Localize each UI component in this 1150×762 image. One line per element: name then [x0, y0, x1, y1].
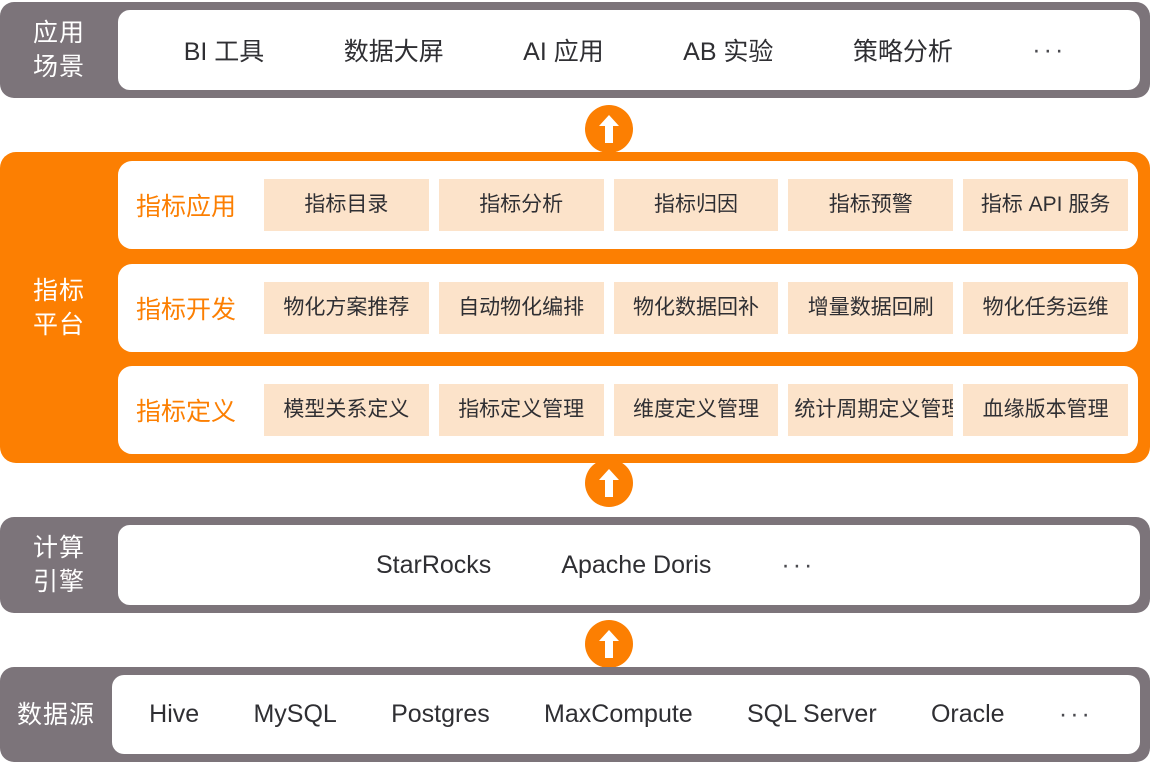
application-scenario-panel: BI 工具 数据大屏 AI 应用 AB 实验 策略分析 ··· [118, 10, 1140, 90]
chip-metric-definition-management: 指标定义管理 [439, 384, 604, 436]
scenario-item-strategy-analysis: 策略分析 [853, 32, 953, 68]
datasource-item-hive: Hive [149, 700, 199, 729]
data-source-panel: Hive MySQL Postgres MaxCompute SQL Serve… [112, 675, 1140, 754]
layer-compute-engine: 计算 引擎 StarRocks Apache Doris ··· [0, 517, 1150, 613]
metrics-platform-rows: 指标应用 指标目录 指标分析 指标归因 指标预警 指标 API 服务 指标开发 … [118, 152, 1150, 463]
chip-metric-analysis: 指标分析 [439, 179, 604, 231]
datasource-item-more-ellipsis: ··· [1059, 700, 1093, 729]
chip-materialized-data-backfill: 物化数据回补 [614, 282, 779, 334]
layer-data-source: 数据源 Hive MySQL Postgres MaxCompute SQL S… [0, 667, 1150, 762]
datasource-item-sql-server: SQL Server [747, 700, 877, 729]
chip-materialization-task-ops: 物化任务运维 [963, 282, 1128, 334]
platform-row-label-metric-development: 指标开发 [136, 290, 264, 326]
scenario-item-data-dashboard: 数据大屏 [344, 32, 444, 68]
chip-metric-api-service: 指标 API 服务 [963, 179, 1128, 231]
platform-row-label-metric-definition: 指标定义 [136, 392, 264, 428]
layer-application-scenario: 应用 场景 BI 工具 数据大屏 AI 应用 AB 实验 策略分析 ··· [0, 2, 1150, 98]
datasource-item-oracle: Oracle [931, 700, 1005, 729]
layer-metrics-platform: 指标 平台 指标应用 指标目录 指标分析 指标归因 指标预警 指标 API 服务… [0, 152, 1150, 463]
datasource-item-postgres: Postgres [391, 700, 490, 729]
arrow-up-icon-scenario [585, 105, 633, 153]
engine-item-more-ellipsis: ··· [781, 551, 815, 580]
chip-model-relation-definition: 模型关系定义 [264, 384, 429, 436]
datasource-item-maxcompute: MaxCompute [544, 700, 693, 729]
engine-item-apache-doris: Apache Doris [561, 551, 711, 580]
datasource-item-mysql: MySQL [253, 700, 336, 729]
scenario-item-more-ellipsis: ··· [1032, 36, 1066, 65]
engine-item-starrocks: StarRocks [376, 551, 491, 580]
arrow-up-icon-engine [585, 620, 633, 668]
scenario-item-ab-experiment: AB 实验 [683, 32, 773, 68]
platform-row-chips-metric-application: 指标目录 指标分析 指标归因 指标预警 指标 API 服务 [264, 179, 1128, 231]
layer-label-metrics-platform: 指标 平台 [0, 274, 118, 342]
chip-metric-catalog: 指标目录 [264, 179, 429, 231]
platform-row-metric-application: 指标应用 指标目录 指标分析 指标归因 指标预警 指标 API 服务 [118, 161, 1138, 249]
scenario-item-ai-application: AI 应用 [523, 32, 604, 68]
chip-metric-attribution: 指标归因 [614, 179, 779, 231]
compute-engine-panel: StarRocks Apache Doris ··· [118, 525, 1140, 605]
chip-incremental-data-refresh: 增量数据回刷 [788, 282, 953, 334]
chip-dimension-definition-management: 维度定义管理 [614, 384, 779, 436]
platform-row-chips-metric-definition: 模型关系定义 指标定义管理 维度定义管理 统计周期定义管理 血缘版本管理 [264, 384, 1128, 436]
chip-auto-materialization-orchestration: 自动物化编排 [439, 282, 604, 334]
platform-row-label-metric-application: 指标应用 [136, 187, 264, 223]
layer-label-data-source: 数据源 [0, 698, 112, 732]
architecture-diagram: 应用 场景 BI 工具 数据大屏 AI 应用 AB 实验 策略分析 ··· 指标… [0, 0, 1150, 762]
chip-statistical-period-definition-management: 统计周期定义管理 [788, 384, 953, 436]
scenario-item-bi-tool: BI 工具 [184, 32, 265, 68]
chip-metric-alert: 指标预警 [788, 179, 953, 231]
layer-label-application-scenario: 应用 场景 [0, 16, 118, 84]
platform-row-metric-definition: 指标定义 模型关系定义 指标定义管理 维度定义管理 统计周期定义管理 血缘版本管… [118, 366, 1138, 454]
arrow-up-icon-platform [585, 459, 633, 507]
platform-row-chips-metric-development: 物化方案推荐 自动物化编排 物化数据回补 增量数据回刷 物化任务运维 [264, 282, 1128, 334]
layer-label-compute-engine: 计算 引擎 [0, 531, 118, 599]
platform-row-metric-development: 指标开发 物化方案推荐 自动物化编排 物化数据回补 增量数据回刷 物化任务运维 [118, 264, 1138, 352]
chip-materialization-plan-recommendation: 物化方案推荐 [264, 282, 429, 334]
chip-lineage-version-management: 血缘版本管理 [963, 384, 1128, 436]
